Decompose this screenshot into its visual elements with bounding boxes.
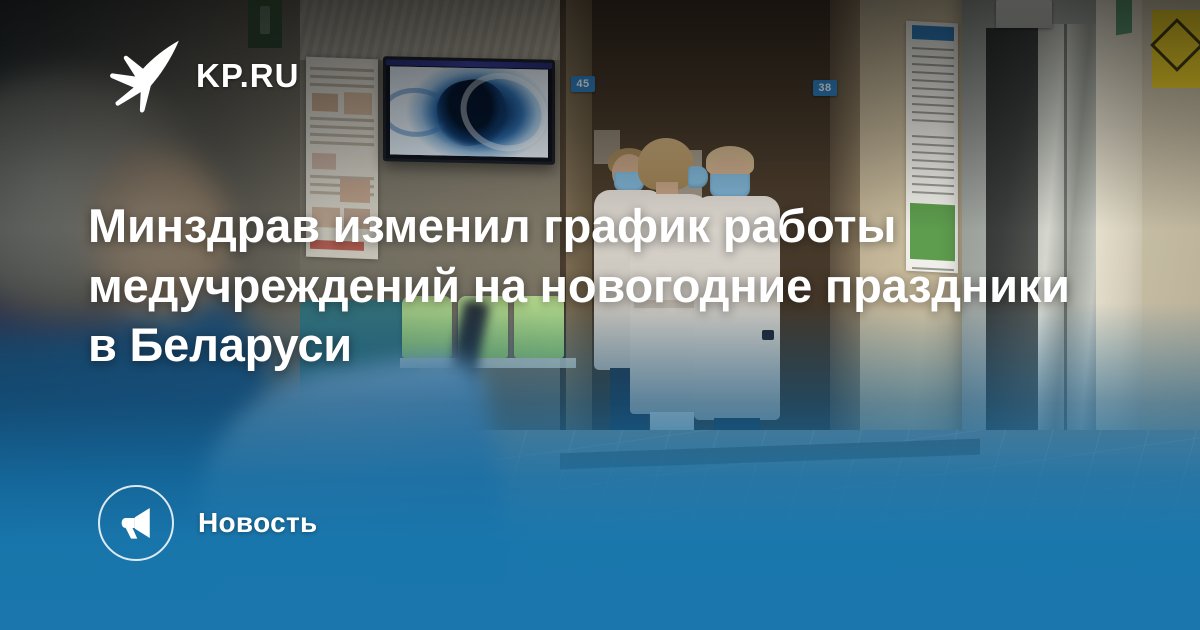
brand-logo[interactable]: KP.RU — [104, 36, 299, 114]
megaphone-icon — [116, 503, 156, 543]
megaphone-icon-circle — [98, 485, 174, 561]
news-share-card: 45 38 — [0, 0, 1200, 630]
page-title: Минздрав изменил график работы медучрежд… — [88, 196, 1098, 375]
status-badge-label: Новость — [198, 507, 318, 539]
swallow-bird-icon — [104, 36, 182, 114]
card-content: KP.RU Минздрав изменил график работы мед… — [0, 0, 1200, 630]
brand-name: KP.RU — [196, 59, 299, 92]
status-badge[interactable]: Новость — [98, 485, 318, 561]
